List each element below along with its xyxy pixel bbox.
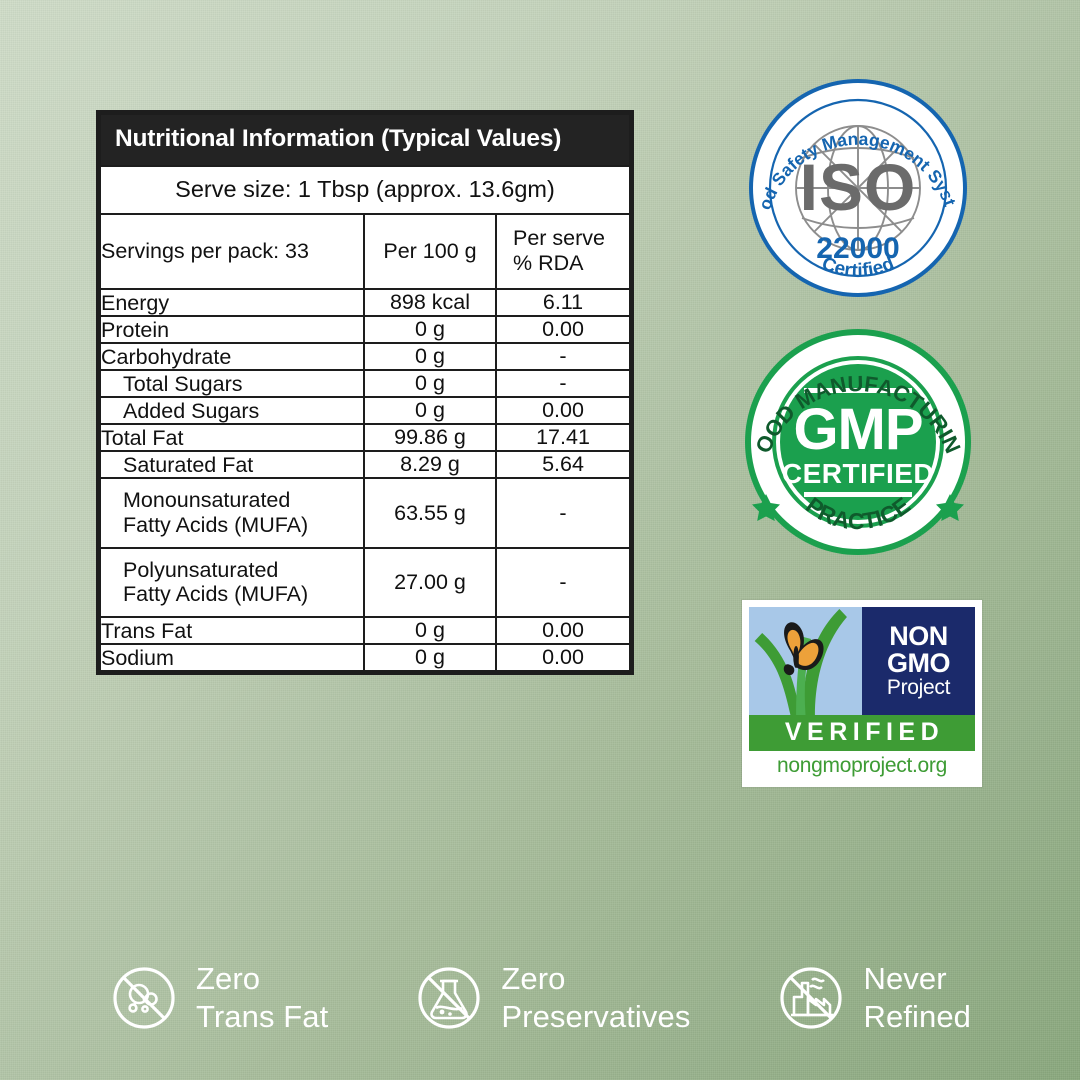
iso-22000-badge: ISO 22000 Certified Food Safety Manageme… (742, 72, 974, 304)
nutrient-per-100g: 8.29 g (364, 451, 496, 478)
nutrient-per-100g: 0 g (364, 397, 496, 424)
nutrient-rda: 5.64 (496, 451, 629, 478)
table-row: Added Sugars0 g0.00 (101, 397, 629, 424)
table-row: Monounsaturated Fatty Acids (MUFA)63.55 … (101, 478, 629, 548)
nutrient-name: Monounsaturated Fatty Acids (MUFA) (101, 478, 364, 548)
no-trans-fat-icon (109, 963, 179, 1033)
table-row: Sodium0 g0.00 (101, 644, 629, 670)
gmp-certified-badge: GMP CERTIFIED GOOD MANUFACTURING PRACTIC… (742, 326, 974, 558)
nutrient-per-100g: 27.00 g (364, 548, 496, 618)
feature-highlights-strip: Zero Trans Fat Zero Preservatives (0, 960, 1080, 1036)
butterfly-grass-icon (749, 607, 862, 715)
nutrition-information-panel: Nutritional Information (Typical Values)… (96, 110, 634, 675)
gmo-wordmark-panel: NON GMO Project (862, 607, 975, 715)
nutrient-per-100g: 99.86 g (364, 424, 496, 451)
panel-title: Nutritional Information (Typical Values) (101, 115, 629, 165)
feature-item-zero-preservatives: Zero Preservatives (414, 960, 690, 1036)
serve-size-row: Serve size: 1 Tbsp (approx. 13.6gm) (101, 165, 629, 215)
iso-wordmark: ISO (800, 150, 917, 224)
gmo-verified-banner: VERIFIED (749, 715, 975, 751)
nutrient-rda: - (496, 343, 629, 370)
nutrient-name: Added Sugars (101, 397, 364, 424)
nutrient-rda: - (496, 548, 629, 618)
table-row: Total Fat99.86 g17.41 (101, 424, 629, 451)
nutrient-name: Protein (101, 316, 364, 343)
nutrient-rda: - (496, 370, 629, 397)
iso-badge-graphic: ISO 22000 Certified Food Safety Manageme… (742, 72, 974, 304)
nutrient-rda: 0.00 (496, 644, 629, 670)
feature-label-zero-trans-fat: Zero Trans Fat (196, 960, 328, 1036)
column-header-per-serve-rda: Per serve % RDA (496, 215, 629, 289)
nutrient-name: Carbohydrate (101, 343, 364, 370)
nutrient-rda: 0.00 (496, 316, 629, 343)
nutrition-table-body: Servings per pack: 33 Per 100 g Per serv… (101, 215, 629, 670)
nutrient-name: Saturated Fat (101, 451, 364, 478)
no-refinery-factory-icon (776, 963, 846, 1033)
table-row: Total Sugars0 g- (101, 370, 629, 397)
table-row: Polyunsaturated Fatty Acids (MUFA)27.00 … (101, 548, 629, 618)
nutrition-table: Servings per pack: 33 Per 100 g Per serv… (101, 215, 629, 670)
nutrient-name: Energy (101, 289, 364, 316)
rda-header-line-1: Per serve (513, 226, 605, 250)
table-row: Carbohydrate0 g- (101, 343, 629, 370)
feature-item-never-refined: Never Refined (776, 960, 971, 1036)
table-header-row: Servings per pack: 33 Per 100 g Per serv… (101, 215, 629, 289)
table-row: Protein0 g0.00 (101, 316, 629, 343)
table-row: Energy898 kcal6.11 (101, 289, 629, 316)
gmo-website-url: nongmoproject.org (749, 751, 975, 780)
nutrient-per-100g: 0 g (364, 617, 496, 644)
non-gmo-project-verified-badge: NON GMO Project VERIFIED nongmoproject.o… (742, 600, 982, 787)
feature-label-zero-preservatives: Zero Preservatives (501, 960, 690, 1036)
gmp-certified-text: CERTIFIED (782, 458, 934, 489)
gmo-line-project: Project (887, 678, 950, 699)
gmo-badge-upper: NON GMO Project (749, 607, 975, 715)
nutrient-name: Total Sugars (101, 370, 364, 397)
feature-item-zero-trans-fat: Zero Trans Fat (109, 960, 328, 1036)
gmp-badge-graphic: GMP CERTIFIED GOOD MANUFACTURING PRACTIC… (742, 326, 974, 558)
nutrient-name: Total Fat (101, 424, 364, 451)
table-row: Trans Fat0 g0.00 (101, 617, 629, 644)
gmo-butterfly-panel (749, 607, 862, 715)
nutrient-name: Sodium (101, 644, 364, 670)
nutrient-rda: 6.11 (496, 289, 629, 316)
gmo-line-non: NON (889, 623, 948, 649)
nutrient-rda: 17.41 (496, 424, 629, 451)
nutrient-name: Polyunsaturated Fatty Acids (MUFA) (101, 548, 364, 618)
nutrient-per-100g: 898 kcal (364, 289, 496, 316)
gmo-line-gmo: GMO (887, 650, 950, 676)
nutrient-per-100g: 0 g (364, 316, 496, 343)
rda-header-line-2: % RDA (513, 251, 583, 275)
nutrient-per-100g: 0 g (364, 644, 496, 670)
no-preservatives-flask-icon (414, 963, 484, 1033)
nutrient-rda: 0.00 (496, 617, 629, 644)
column-header-servings-per-pack: Servings per pack: 33 (101, 215, 364, 289)
certification-badge-stack: ISO 22000 Certified Food Safety Manageme… (742, 72, 982, 787)
feature-label-never-refined: Never Refined (863, 960, 971, 1036)
table-row: Saturated Fat8.29 g5.64 (101, 451, 629, 478)
nutrient-rda: 0.00 (496, 397, 629, 424)
nutrient-name: Trans Fat (101, 617, 364, 644)
nutrient-rda: - (496, 478, 629, 548)
column-header-per-100g: Per 100 g (364, 215, 496, 289)
nutrient-per-100g: 0 g (364, 370, 496, 397)
nutrient-per-100g: 0 g (364, 343, 496, 370)
nutrient-per-100g: 63.55 g (364, 478, 496, 548)
